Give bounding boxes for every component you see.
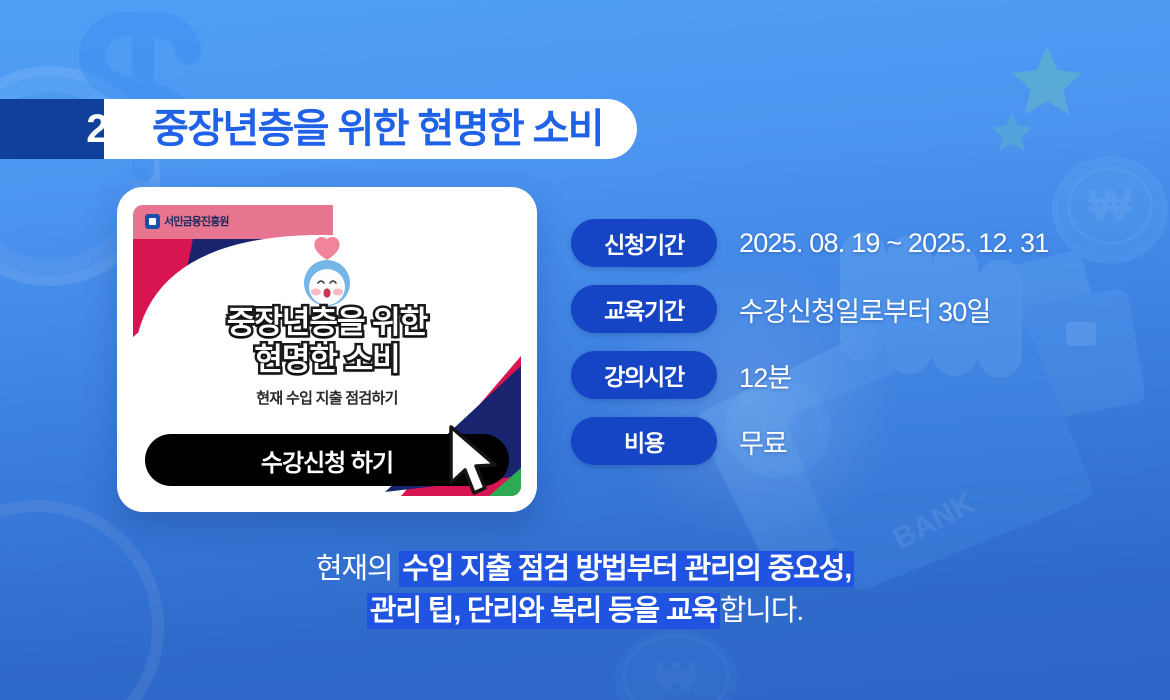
description-highlight-1: 수입 지출 점검 방법부터 관리의 중요성,: [399, 551, 854, 587]
card-subtitle: 현재 수입 지출 점검하기: [133, 387, 521, 408]
course-description: 현재의 수입 지출 점검 방법부터 관리의 중요성, 관리 팁, 단리와 복리 …: [0, 549, 1170, 633]
description-line-1: 현재의 수입 지출 점검 방법부터 관리의 중요성,: [0, 549, 1170, 591]
section-header: 2 중장년층을 위한 현명한 소비: [0, 99, 637, 159]
svg-text:₩: ₩: [655, 653, 697, 700]
star-icon-small: [990, 110, 1034, 152]
info-label-pill: 교육기간: [571, 285, 717, 333]
mouse-cursor-icon: [445, 425, 501, 497]
card-title-line-2: 현명한 소비: [133, 342, 521, 379]
mascot-character-icon: [296, 237, 358, 309]
card-title-line-1: 중장년층을 위한: [133, 305, 521, 342]
svg-text:BANK: BANK: [888, 486, 980, 556]
enroll-button-label: 수강신청 하기: [261, 443, 393, 478]
description-plain-1: 현재의: [316, 553, 399, 585]
description-line-2: 관리 팁, 단리와 복리 등을 교육합니다.: [0, 591, 1170, 633]
star-icon-large: [1008, 42, 1086, 116]
description-plain-2: 합니다.: [720, 595, 803, 627]
card-title-group: 중장년층을 위한 현명한 소비: [133, 305, 521, 378]
section-title-plate: 중장년층을 위한 현명한 소비: [104, 99, 637, 159]
info-row: 비용 무료: [571, 417, 1131, 465]
info-row: 교육기간 수강신청일로부터 30일: [571, 285, 1131, 333]
kinfa-logo-mark-icon: [145, 214, 160, 229]
page-title: 중장년층을 위한 현명한 소비: [152, 109, 603, 149]
promo-banner: ₩ ₩ ₩ BANK: [0, 0, 1170, 700]
description-highlight-2: 관리 팁, 단리와 복리 등을 교육: [367, 593, 720, 629]
won-coin-icon-bottom-center: ₩: [600, 626, 752, 700]
info-row: 신청기간 2025. 08. 19 ~ 2025. 12. 31: [571, 219, 1131, 267]
info-value: 2025. 08. 19 ~ 2025. 12. 31: [739, 228, 1048, 259]
info-row: 강의시간 12분: [571, 351, 1131, 399]
info-label: 교육기간: [604, 292, 684, 326]
course-card[interactable]: 서민금융진흥원 중장년층을 위한 현명한 소비 현재 수입 지출 점검하기 수강…: [117, 187, 537, 512]
info-value: 수강신청일로부터 30일: [739, 290, 991, 329]
info-label-pill: 비용: [571, 417, 717, 465]
info-label: 강의시간: [604, 358, 684, 392]
info-label: 비용: [624, 424, 664, 458]
agency-logo-text: 서민금융진흥원: [164, 213, 229, 229]
info-value: 무료: [739, 422, 787, 461]
info-label-pill: 신청기간: [571, 219, 717, 267]
info-label: 신청기간: [604, 226, 684, 260]
info-value: 12분: [739, 356, 791, 395]
info-label-pill: 강의시간: [571, 351, 717, 399]
agency-logo: 서민금융진흥원: [145, 213, 229, 229]
course-info-list: 신청기간 2025. 08. 19 ~ 2025. 12. 31 교육기간 수강…: [571, 219, 1131, 483]
